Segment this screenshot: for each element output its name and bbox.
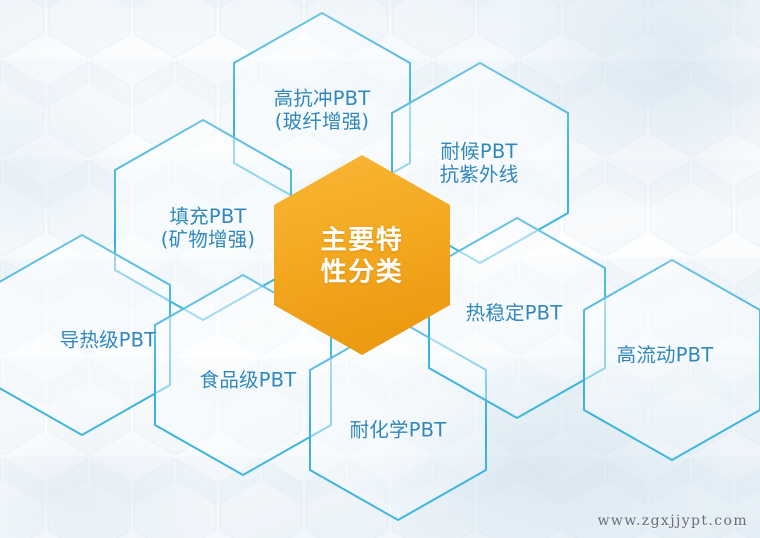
site-watermark: www.zgxjjypt.com xyxy=(597,513,748,529)
hexagon-high-flow-pbt[interactable] xyxy=(584,260,760,460)
diagram-canvas: 高抗冲PBT(玻纤增强)耐候PBT抗紫外线填充PBT(矿物增强)导热级PBT食品… xyxy=(0,0,760,538)
hexagon-network xyxy=(0,0,760,538)
